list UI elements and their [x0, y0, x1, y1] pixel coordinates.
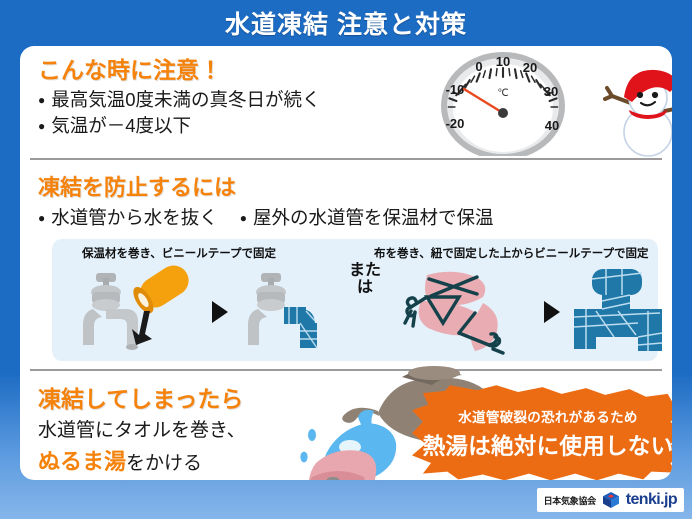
panel-caption-left: 保温材を巻き、ビニールテープで固定 — [82, 245, 276, 261]
list-item: ● 最高気温0度未満の真冬日が続く — [38, 87, 672, 113]
pipe-wrapped-cloth-and-cord-icon — [397, 261, 537, 355]
infographic-poster: 水道凍結 注意と対策 こんな時に注意！ ● 最高気温0度未満の真冬日が続く ● … — [0, 0, 692, 519]
svg-text:0: 0 — [475, 59, 482, 74]
content-card: こんな時に注意！ ● 最高気温0度未満の真冬日が続く ● 気温が－4度以下 — [20, 46, 672, 480]
faucet-wrapped-blue-tape-icon — [237, 261, 357, 355]
caution-bullet-text: 最高気温0度未満の真冬日が続く — [51, 87, 320, 113]
lukewarm-water-highlight: ぬるま湯 — [38, 449, 126, 474]
footer-logo: 日本気象協会 tenki.jp — [537, 488, 684, 512]
right-triangle-arrow-icon — [212, 301, 228, 323]
warning-subtext: 水道管破裂の恐れがあるため — [458, 406, 637, 426]
snowman-icon — [598, 52, 672, 160]
list-item: ● 水道管から水を抜く — [38, 205, 218, 231]
caution-heading: こんな時に注意！ — [38, 58, 672, 82]
bullet-dot-icon: ● — [38, 210, 45, 227]
svg-text:-20: -20 — [446, 116, 465, 131]
svg-text:40: 40 — [545, 118, 559, 133]
prevent-bullet-text: 屋外の水道管を保温材で保温 — [253, 205, 494, 231]
list-item: ● 気温が－4度以下 — [38, 113, 672, 139]
bullet-dot-icon: ● — [38, 92, 45, 109]
svg-text:30: 30 — [544, 84, 558, 99]
faucet-with-insulation-tube-icon — [70, 261, 200, 355]
section-prevent: 凍結を防止するには ● 水道管から水を抜く ● 屋外の水道管を保温材で保温 保温… — [20, 160, 672, 361]
prevent-bullet-list: ● 水道管から水を抜く ● 屋外の水道管を保温材で保温 — [38, 205, 672, 231]
prevent-heading: 凍結を防止するには — [38, 170, 672, 202]
svg-text:20: 20 — [523, 60, 537, 75]
prevent-illustration-panel: 保温材を巻き、ビニールテープで固定 布を巻き、紐で固定した上からビニールテープで… — [52, 239, 658, 361]
frozen-instruction-suffix: をかける — [126, 453, 202, 474]
svg-text:10: 10 — [496, 54, 510, 69]
thermometer-dial-icon: 10 0 20 -10 30 -20 40 ℃ — [438, 50, 568, 156]
tenki-cube-icon — [602, 491, 620, 509]
starburst-warning-icon: 水道管破裂の恐れがあるため 熱湯は絶対に使用しない — [412, 385, 672, 480]
right-triangle-arrow-icon — [544, 301, 560, 323]
bullet-dot-icon: ● — [38, 118, 45, 135]
brand-name: tenki.jp — [626, 491, 677, 509]
page-title: 水道凍結 注意と対策 — [225, 5, 467, 41]
panel-caption-right: 布を巻き、紐で固定した上からビニールテープで固定 — [374, 245, 649, 261]
svg-text:-10: -10 — [446, 82, 465, 97]
caution-bullet-list: ● 最高気温0度未満の真冬日が続く ● 気温が－4度以下 — [38, 87, 672, 140]
warning-main-text: 熱湯は絶対に使用しない — [423, 429, 672, 461]
bullet-dot-icon: ● — [240, 210, 247, 227]
prevent-bullet-text: 水道管から水を抜く — [51, 205, 218, 231]
poster-header: 水道凍結 注意と対策 — [0, 0, 692, 46]
pipe-wrapped-blue-tape-icon — [570, 261, 672, 355]
section-caution: こんな時に注意！ ● 最高気温0度未満の真冬日が続く ● 気温が－4度以下 — [20, 46, 672, 158]
section-frozen: 凍結してしまったら 水道管にタオルを巻き、 ぬるま湯をかける — [20, 371, 672, 480]
thermometer-unit-label: ℃ — [497, 88, 508, 99]
organization-name: 日本気象協会 — [544, 494, 596, 507]
list-item: ● 屋外の水道管を保温材で保温 — [240, 205, 494, 231]
caution-bullet-text: 気温が－4度以下 — [51, 113, 191, 139]
